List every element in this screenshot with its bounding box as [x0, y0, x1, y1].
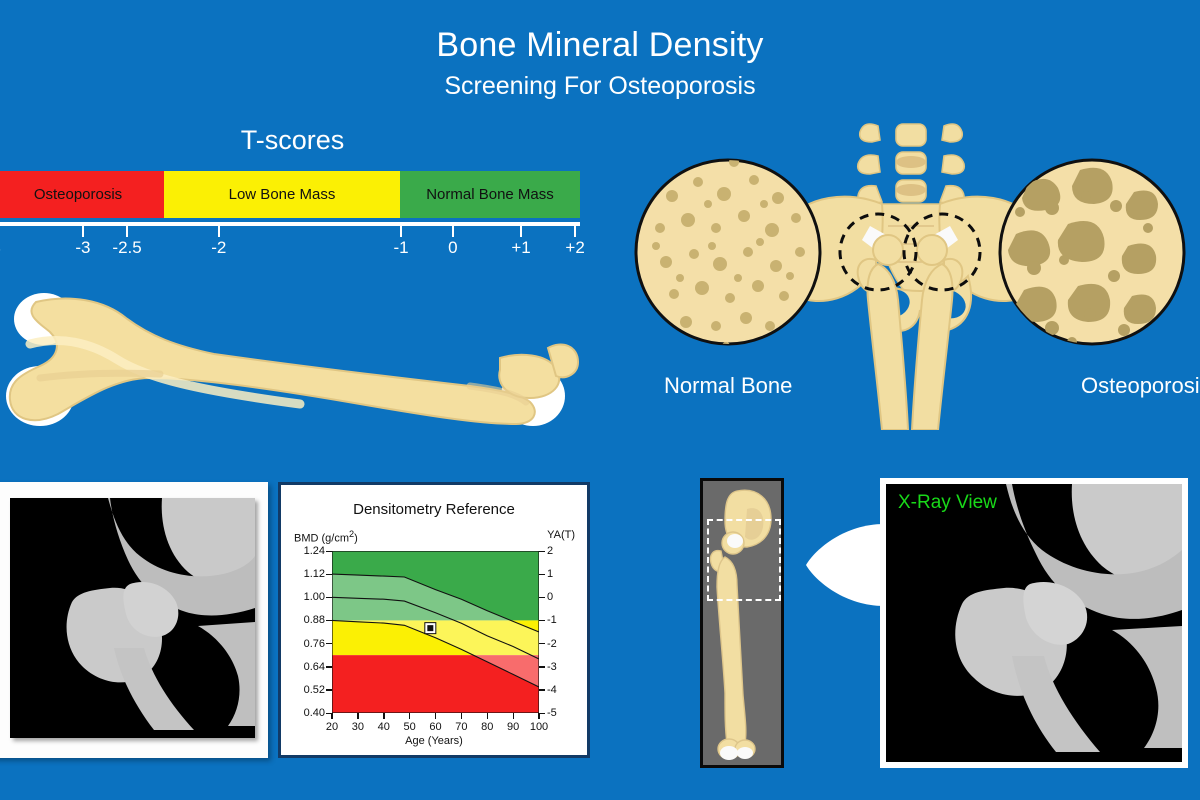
xray-view-image: X-Ray View — [886, 484, 1182, 762]
chart-y-tick-label: 1.00 — [304, 591, 325, 603]
chart-y-tick-label: 1.12 — [304, 568, 325, 580]
chart-x-tick-label: 20 — [326, 721, 338, 733]
tscore-tick — [452, 226, 454, 237]
chart-y-tick-label: 0.88 — [304, 614, 325, 626]
chart-tick-mark — [513, 713, 514, 719]
chart-tick-mark — [435, 713, 436, 719]
chart-y-tick-label: 0.40 — [304, 707, 325, 719]
chart-title: Densitometry Reference — [281, 501, 587, 518]
chart-tick-mark — [487, 713, 488, 719]
page-title: Bone Mineral Density — [0, 26, 1200, 65]
chart-tick-mark — [326, 574, 332, 575]
region-of-interest-box — [707, 519, 781, 601]
dxa-hip-scan-image — [10, 498, 255, 738]
tscore-tick — [574, 226, 576, 237]
tscore-segment-osteoporosis: Osteoporosis — [0, 171, 164, 218]
chart-x-tick-label: 80 — [481, 721, 493, 733]
chart-y2-axis-label: YA(T) — [547, 529, 575, 541]
tscore-tick — [126, 226, 128, 237]
chart-tick-mark — [409, 713, 410, 719]
chart-tick-mark — [539, 689, 545, 690]
xray-view-label: X-Ray View — [898, 492, 997, 514]
chart-tick-mark — [357, 713, 358, 719]
tscore-segment-normal-bone-mass: Normal Bone Mass — [400, 171, 580, 218]
chart-tick-mark — [539, 666, 545, 667]
chart-x-tick-label: 90 — [507, 721, 519, 733]
chart-y2-tick-label: -1 — [547, 614, 557, 626]
chart-x-axis-label: Age (Years) — [281, 735, 587, 747]
tscore-tick-label: -2.5 — [112, 238, 141, 258]
osteoporosis-label: Osteoporosis — [1081, 373, 1200, 399]
chart-tick-mark — [539, 620, 545, 621]
densitometry-chart-panel: Densitometry Reference BMD (g/cm2) YA(T)… — [278, 482, 590, 758]
tscore-tick-label: +2 — [565, 238, 584, 258]
chart-y2-tick-label: 2 — [547, 545, 553, 557]
infographic-canvas: Bone Mineral Density Screening For Osteo… — [0, 0, 1200, 800]
chart-tick-mark — [539, 643, 545, 644]
dxa-scan-card — [0, 482, 268, 758]
chart-tick-mark — [539, 551, 545, 552]
chart-tick-mark — [326, 597, 332, 598]
tscore-tick-label: -4 — [0, 238, 1, 258]
chart-y2-tick-label: 0 — [547, 591, 553, 603]
chart-tick-mark — [326, 666, 332, 667]
chart-y2-tick-label: -4 — [547, 684, 557, 696]
chart-tick-mark — [326, 620, 332, 621]
tscore-tick-label: -1 — [394, 238, 409, 258]
femur-bone-illustration — [0, 268, 600, 428]
tscore-segment-low-bone-mass: Low Bone Mass — [164, 171, 400, 218]
chart-tick-mark — [539, 713, 545, 714]
chart-y-tick-label: 0.52 — [304, 684, 325, 696]
chart-x-tick-label: 60 — [429, 721, 441, 733]
chart-y-tick-label: 0.76 — [304, 638, 325, 650]
chart-y2-tick-label: -5 — [547, 707, 557, 719]
chart-x-tick-label: 40 — [378, 721, 390, 733]
chart-tick-mark — [383, 713, 384, 719]
chart-y-tick-label: 1.24 — [304, 545, 325, 557]
bone-scan-strip — [700, 478, 784, 768]
chart-x-tick-label: 70 — [455, 721, 467, 733]
page-subtitle: Screening For Osteoporosis — [0, 72, 1200, 101]
chart-y-tick-label: 0.64 — [304, 661, 325, 673]
chart-tick-mark — [326, 551, 332, 552]
callout-arrow-icon — [806, 520, 886, 610]
xray-view-panel: X-Ray View — [880, 478, 1188, 768]
chart-x-tick-label: 100 — [530, 721, 548, 733]
tscore-tick — [218, 226, 220, 237]
chart-tick-mark — [538, 713, 539, 719]
tscore-tick-label: +1 — [511, 238, 530, 258]
chart-tick-mark — [539, 597, 545, 598]
tscore-color-bar: Osteoporosis Low Bone Mass Normal Bone M… — [0, 171, 580, 218]
chart-tick-mark — [326, 643, 332, 644]
tscore-tick — [400, 226, 402, 237]
chart-tick-mark — [461, 713, 462, 719]
chart-tick-mark — [539, 574, 545, 575]
tscore-tick — [520, 226, 522, 237]
chart-y2-tick-label: -3 — [547, 661, 557, 673]
tscore-axis-line — [0, 222, 580, 226]
chart-y2-tick-label: 1 — [547, 568, 553, 580]
tscore-section-title: T-scores — [150, 125, 435, 156]
tscore-tick — [82, 226, 84, 237]
tscore-tick-label: 0 — [448, 238, 457, 258]
chart-y2-tick-label: -2 — [547, 638, 557, 650]
chart-tick-mark — [326, 689, 332, 690]
normal-bone-label: Normal Bone — [664, 373, 792, 399]
patient-marker — [427, 625, 433, 631]
tscore-tick-label: -3 — [75, 238, 90, 258]
tscore-tick-label: -2 — [211, 238, 226, 258]
chart-x-tick-label: 30 — [352, 721, 364, 733]
chart-x-tick-label: 50 — [404, 721, 416, 733]
chart-tick-mark — [331, 713, 332, 719]
chart-plot-area — [332, 551, 539, 713]
chart-y-axis-label: BMD (g/cm2) — [294, 529, 358, 545]
